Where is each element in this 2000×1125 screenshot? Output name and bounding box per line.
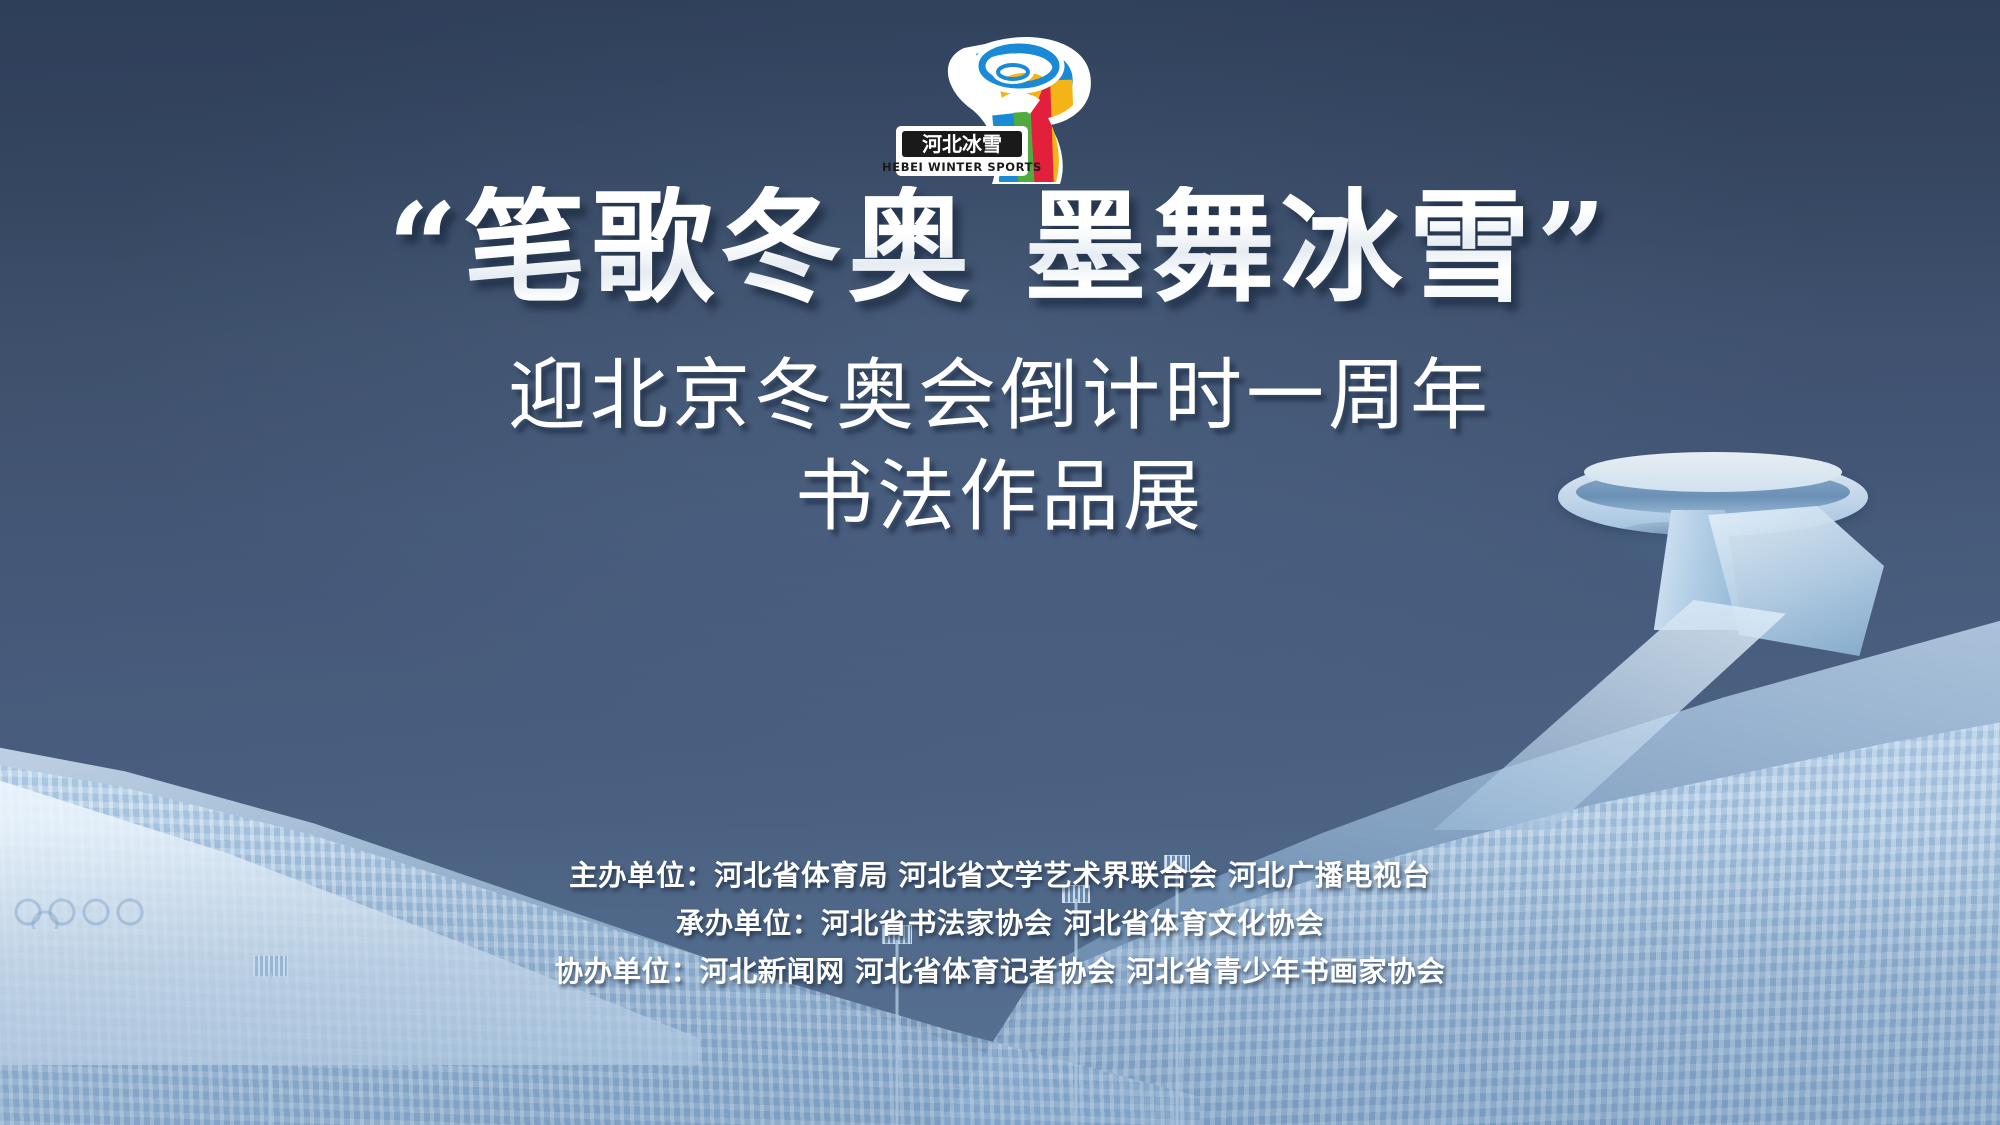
organizer-line-organizer: 承办单位：河北省书法家协会 河北省体育文化协会 xyxy=(0,900,2000,948)
poster-canvas: 河北冰雪 HEBEI WINTER SPORTS “笔歌冬奥 墨舞冰雪” 迎北京… xyxy=(0,0,2000,1125)
poster-content: “笔歌冬奥 墨舞冰雪” 迎北京冬奥会倒计时一周年 书法作品展 主办单位：河北省体… xyxy=(0,0,2000,1125)
organizer-line-coorganizer: 协办单位：河北新闻网 河北省体育记者协会 河北省青少年书画家协会 xyxy=(0,948,2000,996)
organizer-line-host: 主办单位：河北省体育局 河北省文学艺术界联合会 河北广播电视台 xyxy=(0,852,2000,900)
subtitle-line-2: 书法作品展 xyxy=(508,447,1492,548)
organizer-credits: 主办单位：河北省体育局 河北省文学艺术界联合会 河北广播电视台 承办单位：河北省… xyxy=(0,852,2000,996)
poster-subtitle: 迎北京冬奥会倒计时一周年 书法作品展 xyxy=(508,346,1492,549)
poster-main-title: “笔歌冬奥 墨舞冰雪” xyxy=(388,186,1613,308)
subtitle-line-1: 迎北京冬奥会倒计时一周年 xyxy=(508,351,1492,441)
